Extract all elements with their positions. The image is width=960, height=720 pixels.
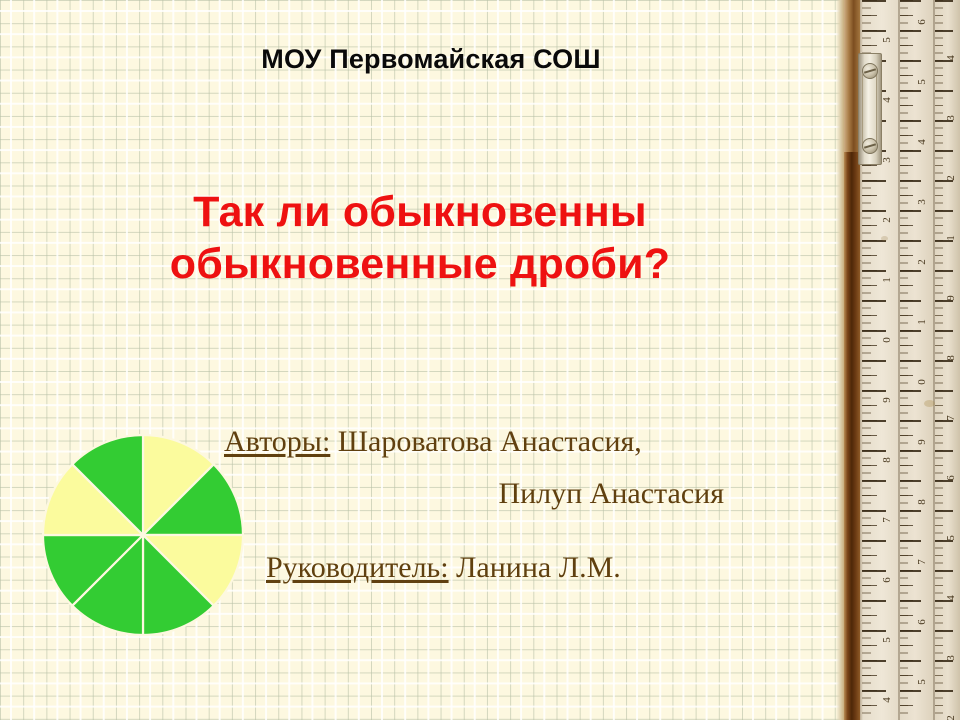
credits-block: Авторы: Шароватова Анастасия, Пилуп Анас… — [224, 416, 724, 594]
ruler-number: 3 — [916, 199, 928, 205]
ruler-number: 0 — [881, 337, 893, 343]
supervisor-label: Руководитель: — [266, 551, 449, 584]
presentation-slide: МОУ Первомайская СОШ Так ли обыкновенны … — [0, 0, 960, 720]
ruler-number: 4 — [916, 139, 928, 145]
ruler-number: 3 — [945, 655, 957, 661]
ruler-number: 8 — [916, 499, 928, 505]
ruler-hinge-screw-bottom — [862, 138, 878, 154]
ruler-number: 8 — [945, 355, 957, 361]
ruler-number: 4 — [881, 697, 893, 703]
ruler-number: 2 — [945, 175, 957, 181]
ruler-number: 9 — [916, 439, 928, 445]
ruler-number: 3 — [945, 115, 957, 121]
ruler-number: 3 — [881, 157, 893, 163]
ruler-number: 6 — [881, 577, 893, 583]
supervisor-name: Ланина Л.М. — [456, 551, 621, 584]
ruler-number: 7 — [945, 415, 957, 421]
school-name-heading: МОУ Первомайская СОШ — [0, 44, 862, 75]
ruler-number: 6 — [945, 475, 957, 481]
title-line-2: обыкновенные дроби? — [20, 238, 820, 290]
ruler-number: 2 — [881, 217, 893, 223]
page-title: Так ли обыкновенны обыкновенные дроби? — [20, 186, 820, 290]
ruler-hinge-screw-top — [862, 63, 878, 79]
ruler-number: 2 — [916, 259, 928, 265]
ruler-stain-1 — [924, 400, 935, 407]
author-name-2: Пилуп Анастасия — [498, 477, 724, 510]
ruler-number: 9 — [881, 397, 893, 403]
credits-spacer — [224, 520, 724, 542]
ruler-number: 6 — [916, 619, 928, 625]
ruler-number: 4 — [945, 595, 957, 601]
ruler-number: 1 — [916, 319, 928, 325]
pie-chart-svg — [42, 434, 244, 636]
ruler-number: 1 — [945, 235, 957, 241]
authors-line-1: Авторы: Шароватова Анастасия, — [224, 416, 724, 468]
ruler-photo: 5432109876543654321098765432198765432 — [836, 0, 960, 720]
ruler-number: 6 — [916, 19, 928, 25]
ruler-number: 0 — [916, 379, 928, 385]
authors-label: Авторы: — [224, 425, 330, 458]
ruler-number: 5 — [916, 679, 928, 685]
ruler-number: 1 — [881, 277, 893, 283]
ruler-stain-2 — [881, 236, 888, 241]
ruler-number: 5 — [881, 37, 893, 43]
ruler-ticks-major-b — [900, 0, 921, 720]
ruler-number: 4 — [945, 55, 957, 61]
ruler-number: 5 — [945, 535, 957, 541]
ruler-number: 8 — [881, 457, 893, 463]
fraction-pie-chart — [42, 434, 244, 636]
author-name-1: Шароватова Анастасия, — [338, 425, 642, 458]
ruler-number: 5 — [881, 637, 893, 643]
title-line-1: Так ли обыкновенны — [20, 186, 820, 238]
ruler-number: 4 — [881, 97, 893, 103]
authors-line-2: Пилуп Анастасия — [224, 468, 724, 520]
ruler-number: 9 — [945, 295, 957, 301]
ruler-number: 7 — [881, 517, 893, 523]
supervisor-line: Руководитель: Ланина Л.М. — [224, 542, 724, 594]
ruler-number: 7 — [916, 559, 928, 565]
ruler-edge-shadow — [836, 0, 844, 720]
ruler-number: 5 — [916, 79, 928, 85]
ruler-number: 2 — [945, 715, 957, 720]
